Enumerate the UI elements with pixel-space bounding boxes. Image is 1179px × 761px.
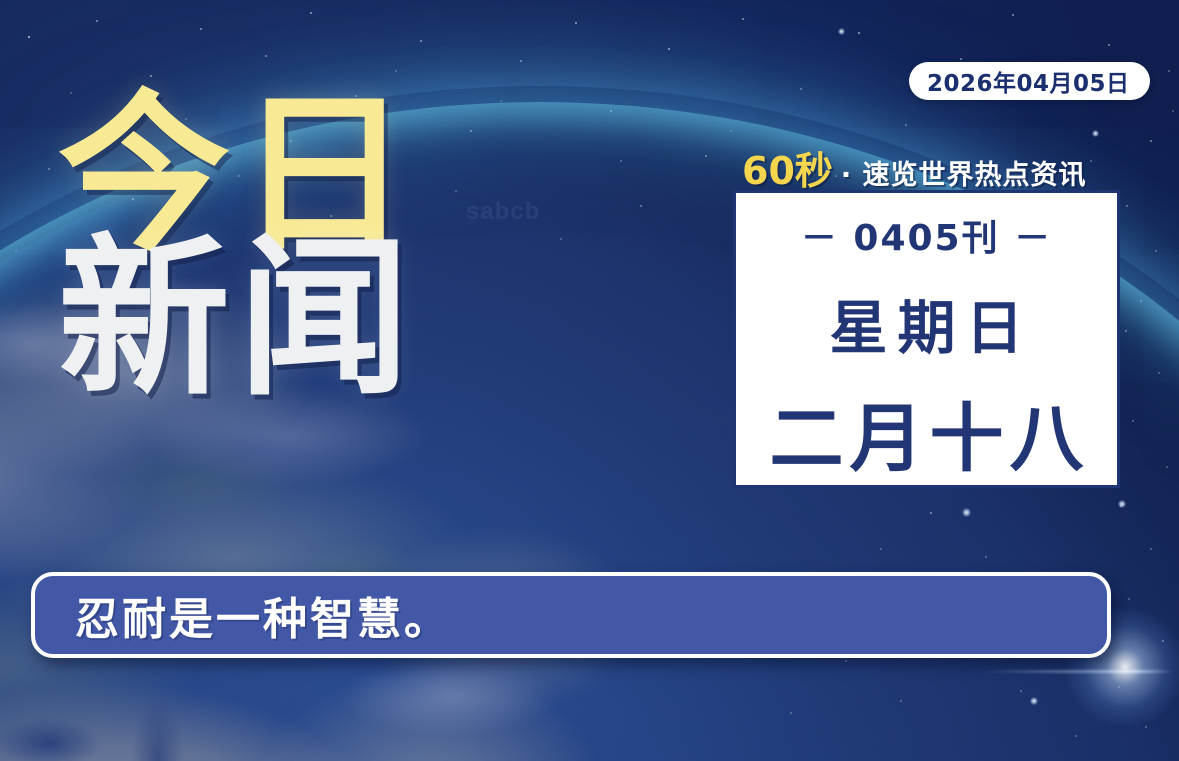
bright-star xyxy=(838,28,845,35)
bright-star xyxy=(1118,500,1126,508)
quote-text: 忍耐是一种智慧。 xyxy=(75,583,451,647)
date-badge: 2026年04月05日 xyxy=(909,62,1150,100)
bright-star xyxy=(1030,697,1038,705)
date-card-weekday: 星期日 xyxy=(819,281,1033,365)
date-badge-label: 2026年04月05日 xyxy=(927,64,1130,98)
date-card: － 0405刊 － 星期日 二月十八 xyxy=(733,190,1120,488)
quote-bar: 忍耐是一种智慧。 xyxy=(31,572,1111,658)
tagline: 60秒 · 速览世界热点资讯 xyxy=(742,140,1087,195)
poster-canvas: sabcb 今日 新闻 2026年04月05日 60秒 · 速览世界热点资讯 －… xyxy=(0,0,1179,761)
page-title: 今日 新闻 xyxy=(58,96,418,398)
date-card-lunar-date: 二月十八 xyxy=(764,379,1090,486)
tagline-seconds: 60秒 xyxy=(742,140,833,195)
date-card-issue: － 0405刊 － xyxy=(801,209,1052,261)
bright-star xyxy=(1092,130,1099,137)
bright-star xyxy=(962,508,971,517)
page-title-line-bottom: 新闻 xyxy=(58,240,418,398)
tagline-description: · 速览世界热点资讯 xyxy=(841,153,1087,192)
